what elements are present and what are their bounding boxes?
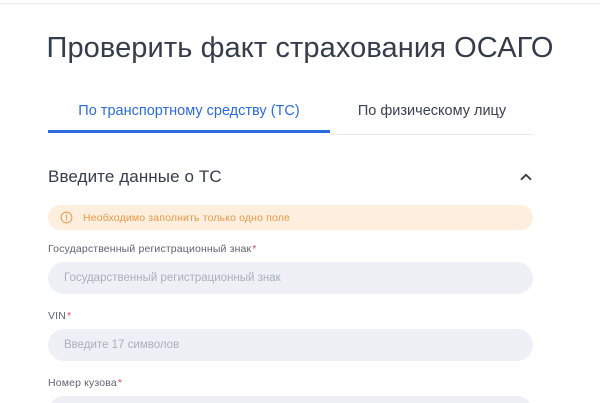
tab-by-person[interactable]: По физическому лицу (330, 100, 534, 135)
field-body-number-label-text: Номер кузова (48, 377, 117, 389)
field-registration-plate: Государственный регистрационный знак* (48, 243, 533, 294)
field-registration-plate-label: Государственный регистрационный знак* (48, 243, 533, 255)
page-title: Проверить факт страхования ОСАГО (0, 29, 600, 67)
required-asterisk: * (118, 377, 122, 389)
required-asterisk: * (252, 243, 256, 255)
field-vin: VIN* (48, 310, 533, 361)
field-registration-plate-label-text: Государственный регистрационный знак (48, 243, 251, 255)
field-body-number: Номер кузова* (48, 377, 533, 403)
required-asterisk: * (67, 310, 71, 322)
section-title: Введите данные о ТС (48, 167, 222, 187)
alert-circle-icon (60, 211, 73, 224)
warning-message: Необходимо заполнить только одно поле (83, 212, 290, 224)
vin-input[interactable] (48, 329, 533, 361)
field-body-number-label: Номер кузова* (48, 377, 533, 389)
chevron-up-icon[interactable] (518, 169, 534, 185)
tab-bar: По транспортному средству (ТС) По физиче… (48, 100, 534, 134)
section-header-vehicle-data[interactable]: Введите данные о ТС (48, 163, 534, 191)
osago-check-page: Проверить факт страхования ОСАГО По тран… (0, 0, 600, 403)
body-number-input[interactable] (48, 396, 533, 403)
tab-by-person-label: По физическому лицу (358, 100, 506, 122)
tab-by-vehicle[interactable]: По транспортному средству (ТС) (48, 100, 330, 133)
tab-by-vehicle-label: По транспортному средству (ТС) (78, 100, 299, 122)
field-vin-label-text: VIN (48, 310, 66, 322)
warning-banner: Необходимо заполнить только одно поле (48, 205, 533, 230)
top-divider (0, 3, 600, 4)
field-vin-label: VIN* (48, 310, 533, 322)
registration-plate-input[interactable] (48, 262, 533, 294)
